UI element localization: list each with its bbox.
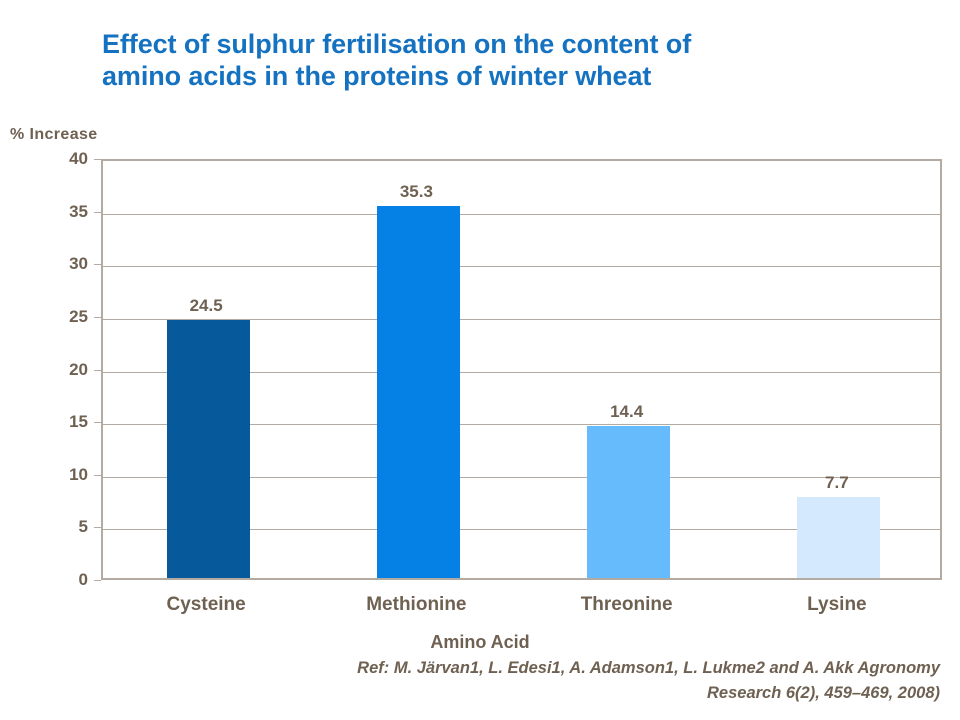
y-tick-mark — [94, 422, 101, 423]
x-tick-label-methionine: Methionine — [366, 594, 466, 616]
y-tick-mark — [94, 527, 101, 528]
bar-threonine[interactable] — [587, 426, 670, 578]
y-tick-mark — [94, 580, 101, 581]
chart-title: Effect of sulphur fertilisation on the c… — [102, 28, 892, 92]
y-tick-label: 20 — [42, 360, 88, 380]
gridline — [103, 266, 940, 267]
bar-value-label: 24.5 — [190, 296, 223, 316]
reference-citation: Ref: M. Järvan1, L. Edesi1, A. Adamson1,… — [100, 656, 940, 706]
y-tick-mark — [94, 212, 101, 213]
y-tick-mark — [94, 264, 101, 265]
y-tick-label: 40 — [42, 149, 88, 169]
y-axis-title: % Increase — [10, 126, 98, 144]
bar-value-label: 14.4 — [610, 402, 643, 422]
bar-lysine[interactable] — [797, 497, 880, 578]
bar-cysteine[interactable] — [167, 320, 250, 578]
y-tick-label: 25 — [42, 307, 88, 327]
x-axis-title: Amino Acid — [0, 632, 960, 653]
x-tick-label-threonine: Threonine — [581, 594, 673, 616]
bar-value-label: 7.7 — [825, 473, 849, 493]
reference-line-2: Research 6(2), 459–469, 2008) — [100, 681, 940, 706]
y-tick-label: 0 — [42, 570, 88, 590]
y-tick-mark — [94, 475, 101, 476]
slide-canvas: Effect of sulphur fertilisation on the c… — [0, 0, 960, 720]
reference-line-1: Ref: M. Järvan1, L. Edesi1, A. Adamson1,… — [100, 656, 940, 681]
y-tick-mark — [94, 159, 101, 160]
y-tick-label: 15 — [42, 412, 88, 432]
plot-area — [101, 159, 942, 580]
y-tick-label: 35 — [42, 202, 88, 222]
x-tick-label-cysteine: Cysteine — [167, 594, 246, 616]
y-tick-label: 30 — [42, 254, 88, 274]
y-tick-mark — [94, 317, 101, 318]
gridline — [103, 214, 940, 215]
x-tick-label-lysine: Lysine — [807, 594, 867, 616]
y-tick-label: 10 — [42, 465, 88, 485]
y-tick-label: 5 — [42, 517, 88, 537]
bar-value-label: 35.3 — [400, 182, 433, 202]
y-tick-mark — [94, 370, 101, 371]
bar-methionine[interactable] — [377, 206, 460, 578]
